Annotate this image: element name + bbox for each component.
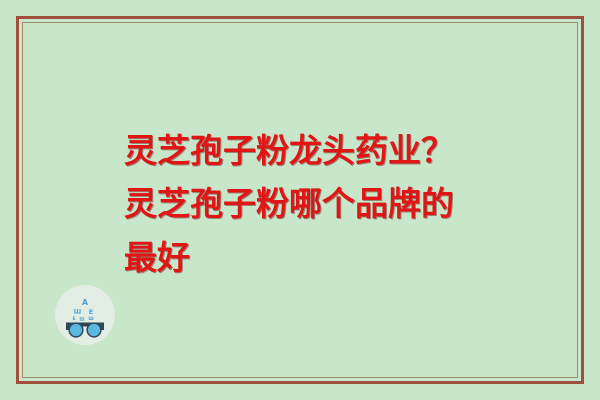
glasses-right-lens — [88, 324, 100, 336]
brand-badge: A Ш E E Ш Ш — [55, 285, 115, 345]
eye-chart-row-2-right: E — [89, 308, 93, 316]
badge-circle — [55, 285, 115, 345]
eye-chart-row-1: A — [82, 298, 89, 307]
glasses-bridge — [82, 324, 88, 327]
glasses-left-lens — [70, 324, 82, 336]
eye-chart-row-3-mid: Ш — [79, 316, 84, 321]
eye-chart-row-3-left: E — [73, 316, 76, 321]
eyeglasses-eyechart-icon: A Ш E E Ш Ш — [55, 285, 115, 345]
poster-canvas: 灵芝孢子粉龙头药业？灵芝孢子粉哪个品牌的最好 A Ш E E Ш Ш — [0, 0, 600, 400]
page-title: 灵芝孢子粉龙头药业？灵芝孢子粉哪个品牌的最好 — [124, 124, 476, 284]
eye-chart-row-2-left: Ш — [74, 309, 81, 316]
eye-chart-row-3-right: Ш — [88, 316, 93, 321]
headline-block: 灵芝孢子粉龙头药业？灵芝孢子粉哪个品牌的最好 — [124, 124, 476, 284]
